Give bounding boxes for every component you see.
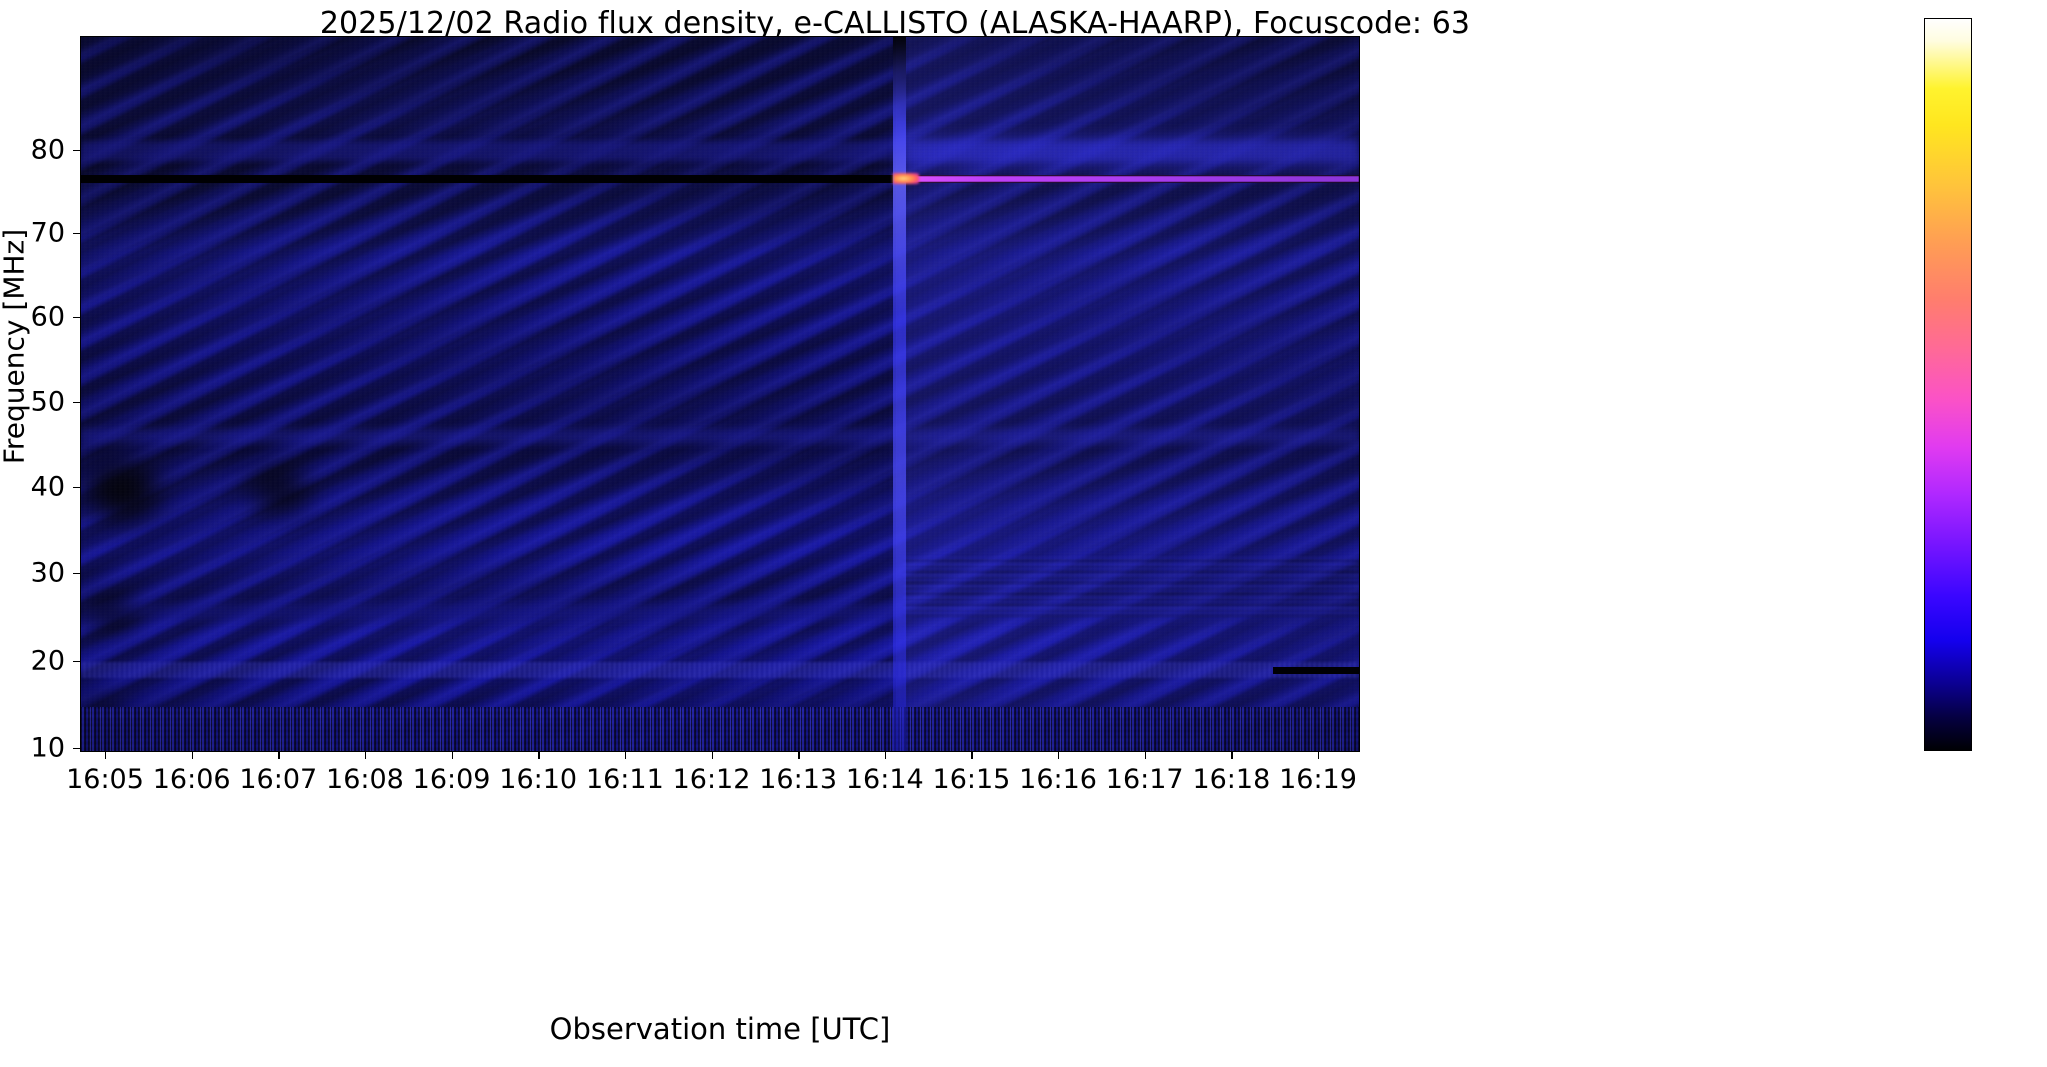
x-tick-mark [365,752,366,759]
x-tick-mark [452,752,453,759]
x-tick-label: 16:14 [846,764,924,795]
colorbar [1924,18,1972,751]
y-tick-label: 20 [0,646,65,677]
x-tick-mark [1145,752,1146,759]
x-tick-label: 16:16 [1019,764,1097,795]
y-tick-label: 60 [0,302,65,333]
x-axis-label: Observation time [UTC] [80,1012,1360,1046]
x-tick-mark [278,752,279,759]
x-tick-label: 16:10 [499,764,577,795]
x-tick-mark [192,752,193,759]
spectrogram-figure: 2025/12/02 Radio flux density, e-CALLIST… [0,0,2047,1067]
x-tick-label: 16:09 [413,764,491,795]
x-tick-mark [1058,752,1059,759]
y-tick-mark [73,317,80,318]
x-tick-label: 16:18 [1192,764,1270,795]
colorbar-gradient [1925,19,1971,750]
x-tick-mark [625,752,626,759]
x-tick-mark [885,752,886,759]
x-tick-mark [105,752,106,759]
x-tick-mark [712,752,713,759]
x-tick-label: 16:05 [66,764,144,795]
x-tick-mark [798,752,799,759]
y-tick-label: 30 [0,558,65,589]
y-tick-label: 10 [0,733,65,764]
spectrogram-plot-area [80,36,1360,752]
y-tick-mark [73,573,80,574]
y-tick-label: 70 [0,218,65,249]
y-tick-label: 80 [0,135,65,166]
x-tick-label: 16:19 [1279,764,1357,795]
y-tick-mark [73,661,80,662]
x-tick-label: 16:12 [673,764,751,795]
x-tick-label: 16:17 [1106,764,1184,795]
x-tick-label: 16:13 [759,764,837,795]
x-tick-mark [1318,752,1319,759]
plot-vignette [81,37,1359,751]
y-tick-label: 40 [0,472,65,503]
x-tick-label: 16:08 [326,764,404,795]
y-tick-mark [73,233,80,234]
y-tick-mark [73,150,80,151]
y-tick-mark [73,487,80,488]
y-tick-mark [73,402,80,403]
x-tick-mark [971,752,972,759]
x-tick-label: 16:15 [933,764,1011,795]
x-tick-label: 16:06 [153,764,231,795]
x-tick-label: 16:07 [239,764,317,795]
y-tick-label: 50 [0,387,65,418]
x-tick-mark [1231,752,1232,759]
y-tick-mark [73,748,80,749]
x-tick-mark [538,752,539,759]
x-tick-label: 16:11 [586,764,664,795]
